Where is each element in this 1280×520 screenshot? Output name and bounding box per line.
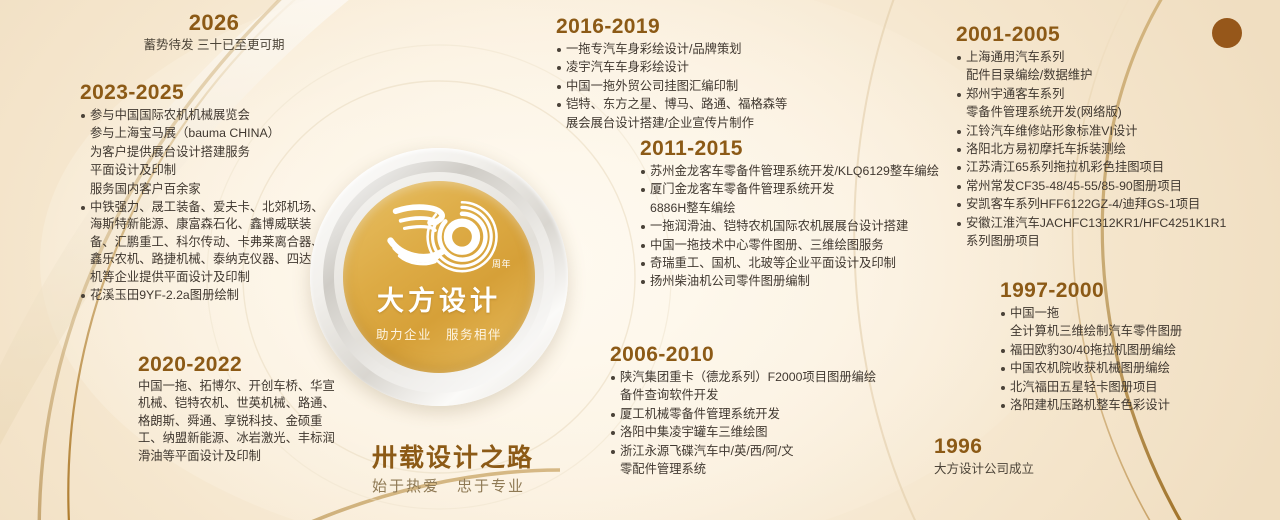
tagline-block: 卅载设计之路 始于热爱 忠于专业	[372, 442, 612, 499]
era-2001-2005: 2001-2005 上海通用汽车系列 配件目录编绘/数据维护 郑州宇通客车系列 …	[956, 22, 1272, 250]
era-2023-2025-list: 参与中国国际农机机械展览会 参与上海宝马展（bauma CHINA） 为客户提供…	[80, 107, 332, 304]
era-2006-2010-title: 2006-2010	[610, 342, 930, 368]
list-item: 服务国内客户百余家	[80, 181, 332, 198]
list-item: 中国农机院收获机械图册编绘	[1000, 360, 1280, 377]
list-item: 北汽福田五星轻卡图册项目	[1000, 379, 1280, 396]
era-2001-2005-list: 上海通用汽车系列 配件目录编绘/数据维护 郑州宇通客车系列 零备件管理系统开发(…	[956, 49, 1272, 250]
list-item: 上海通用汽车系列	[956, 49, 1272, 66]
era-2020-2022-title: 2020-2022	[138, 352, 338, 378]
list-item: 一拖润滑油、铠特农机国际农机展展台设计搭建	[640, 218, 970, 235]
list-item: 常州常发CF35-48/45-55/85-90图册项目	[956, 178, 1272, 195]
list-item: 6886H整车编绘	[640, 200, 970, 217]
logo-30-icon	[375, 201, 503, 275]
list-item: 中国一拖技术中心零件图册、三维绘图服务	[640, 237, 970, 254]
list-item: 中铁强力、晟工装备、爱夫卡、北郊机场、海斯特新能源、康富森石化、鑫博威联装备、汇…	[80, 199, 332, 286]
list-item: 厦工机械零备件管理系统开发	[610, 406, 930, 423]
list-item: 安徽江淮汽车JACHFC1312KR1/HFC4251K1R1	[956, 215, 1272, 232]
list-item: 江铃汽车维修站形象标准VI设计	[956, 123, 1272, 140]
list-item: 苏州金龙客车零备件管理系统开发/KLQ6129整车编绘	[640, 163, 970, 180]
list-item: 洛阳北方易初摩托车拆装测绘	[956, 141, 1272, 158]
list-item: 零配件管理系统	[610, 461, 930, 478]
list-item: 福田欧豹30/40拖拉机图册编绘	[1000, 342, 1280, 359]
list-item: 系列图册项目	[956, 233, 1272, 250]
era-2026-title: 2026	[84, 10, 344, 36]
list-item: 中国一拖	[1000, 305, 1280, 322]
list-item: 郑州宇通客车系列	[956, 86, 1272, 103]
era-2006-2010-list: 陕汽集团重卡（德龙系列）F2000项目图册编绘 备件查询软件开发 厦工机械零备件…	[610, 369, 930, 478]
brand-name: 大方设计	[377, 279, 501, 318]
anniversary-badge: 周年 大方设计 助力企业 服务相伴	[310, 148, 568, 406]
list-item: 扬州柴油机公司零件图册编制	[640, 273, 970, 290]
list-item: 展会展台设计搭建/企业宣传片制作	[556, 115, 886, 132]
list-item: 参与上海宝马展（bauma CHINA）	[80, 125, 332, 142]
list-item: 花溪玉田9YF-2.2a图册绘制	[80, 287, 332, 304]
era-2011-2015-list: 苏州金龙客车零备件管理系统开发/KLQ6129整车编绘 厦门金龙客车零备件管理系…	[640, 163, 970, 291]
list-item: 浙江永源飞碟汽车中/英/西/阿/文	[610, 443, 930, 460]
list-item: 配件目录编绘/数据维护	[956, 67, 1272, 84]
list-item: 奇瑞重工、国机、北玻等企业平面设计及印制	[640, 255, 970, 272]
era-2011-2015-title: 2011-2015	[640, 136, 970, 162]
tagline-main: 卅载设计之路	[372, 442, 612, 474]
list-item: 铠特、东方之星、博马、路通、福格森等	[556, 96, 886, 113]
anniversary-mark: 周年	[492, 259, 511, 269]
list-item: 洛阳建机压路机整车色彩设计	[1000, 397, 1280, 414]
badge-gold-disc: 周年 大方设计 助力企业 服务相伴	[343, 181, 535, 373]
list-item: 一拖专汽车身彩绘设计/品牌策划	[556, 41, 886, 58]
era-1997-2000: 1997-2000 中国一拖 全计算机三维绘制汽车零件图册 福田欧豹30/40拖…	[1000, 278, 1280, 414]
list-item: 凌宇汽车车身彩绘设计	[556, 59, 886, 76]
list-item: 参与中国国际农机机械展览会	[80, 107, 332, 124]
list-item: 为客户提供展台设计搭建服务	[80, 144, 332, 161]
list-item: 全计算机三维绘制汽车零件图册	[1000, 323, 1280, 340]
tagline-sub: 始于热爱 忠于专业	[372, 475, 612, 499]
era-1996: 1996 大方设计公司成立	[934, 434, 1134, 478]
era-2001-2005-title: 2001-2005	[956, 22, 1272, 48]
brand-slogan: 助力企业 服务相伴	[376, 324, 502, 343]
era-2023-2025-title: 2023-2025	[80, 80, 332, 106]
era-1997-2000-list: 中国一拖 全计算机三维绘制汽车零件图册 福田欧豹30/40拖拉机图册编绘 中国农…	[1000, 305, 1280, 414]
list-item: 江苏清江65系列拖拉机彩色挂图项目	[956, 159, 1272, 176]
list-item: 零备件管理系统开发(网络版)	[956, 104, 1272, 121]
list-item: 平面设计及印制	[80, 162, 332, 179]
era-2016-2019-title: 2016-2019	[556, 14, 886, 40]
era-2011-2015: 2011-2015 苏州金龙客车零备件管理系统开发/KLQ6129整车编绘 厦门…	[640, 136, 970, 291]
list-item: 陕汽集团重卡（德龙系列）F2000项目图册编绘	[610, 369, 930, 386]
era-2026-subtitle: 蓄势待发 三十已至更可期	[84, 36, 344, 54]
era-2026: 2026 蓄势待发 三十已至更可期	[84, 10, 344, 54]
era-2023-2025: 2023-2025 参与中国国际农机机械展览会 参与上海宝马展（bauma CH…	[80, 80, 332, 304]
list-item: 安凯客车系列HFF6122GZ-4/迪拜GS-1项目	[956, 196, 1272, 213]
era-1997-2000-title: 1997-2000	[1000, 278, 1280, 304]
era-2016-2019: 2016-2019 一拖专汽车身彩绘设计/品牌策划 凌宇汽车车身彩绘设计 中国一…	[556, 14, 886, 132]
list-item: 洛阳中集凌宇罐车三维绘图	[610, 424, 930, 441]
era-1996-subtitle: 大方设计公司成立	[934, 460, 1134, 478]
era-2020-2022: 2020-2022 中国一拖、拓博尔、开创车桥、华宣机械、铠特农机、世英机械、路…	[138, 352, 338, 465]
list-item: 厦门金龙客车零备件管理系统开发	[640, 181, 970, 198]
list-item: 备件查询软件开发	[610, 387, 930, 404]
era-1996-title: 1996	[934, 434, 1134, 460]
era-2006-2010: 2006-2010 陕汽集团重卡（德龙系列）F2000项目图册编绘 备件查询软件…	[610, 342, 930, 478]
list-item: 中国一拖外贸公司挂图汇编印制	[556, 78, 886, 95]
era-2020-2022-paragraph: 中国一拖、拓博尔、开创车桥、华宣机械、铠特农机、世英机械、路通、格朗斯、舜通、享…	[138, 378, 338, 465]
era-2016-2019-list: 一拖专汽车身彩绘设计/品牌策划 凌宇汽车车身彩绘设计 中国一拖外贸公司挂图汇编印…	[556, 41, 886, 132]
infographic-canvas: 2026 蓄势待发 三十已至更可期 2023-2025 参与中国国际农机机械展览…	[0, 0, 1280, 520]
